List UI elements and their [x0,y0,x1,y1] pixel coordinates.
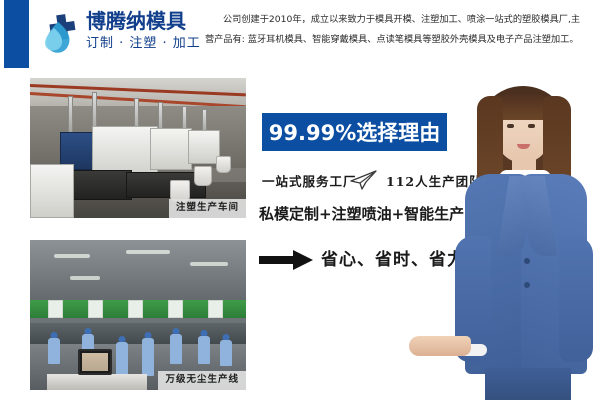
blazer-button [524,282,530,288]
brand-accent-block [4,0,29,68]
headline-banner-text: 99.99%选择理由 [262,113,447,151]
line-ceiling [30,240,246,300]
logo-company-name: 博腾纳模具 [86,8,206,34]
workstation-panel [128,300,143,318]
photo-caption: 万级无尘生产线 [158,371,246,390]
photo-injection-molding-workshop: 注塑生产车间 [30,78,246,218]
workstation-panel [88,300,103,318]
ceiling-lamp [70,276,100,280]
company-logo[interactable]: 博腾纳模具 订制 · 注塑 · 加工 [38,8,203,62]
front-cabinet [30,164,74,218]
ceiling-lamp [126,250,170,254]
company-description-line-1: 公司创建于2010年，成立以来致力于模具开模、注塑加工、喷涂一站式的塑胶模具厂,… [205,10,593,30]
molding-machine [150,128,192,170]
right-arrow-icon [259,250,313,270]
machine-mast [68,96,73,136]
droplet-cross-logo-icon [38,12,82,58]
paper-plane-icon [348,169,378,191]
workshop-scene [30,78,246,218]
plastic-bucket [194,166,212,186]
ceiling-lamp [190,262,228,266]
work-bench [30,323,246,344]
businesswoman-presenting [455,86,595,400]
skirt [485,368,571,400]
photo-caption: 注塑生产车间 [169,199,246,218]
logo-text-group: 博腾纳模具 订制 · 注塑 · 加工 [86,8,206,54]
company-description: 公司创建于2010年，成立以来致力于模具开模、注塑加工、喷涂一站式的塑胶模具厂,… [205,10,593,50]
workstation-panel [48,300,63,318]
benefits-text: 省心、省时、省力 [321,245,465,275]
computer-monitor [78,349,112,375]
right-arm [559,236,593,362]
plastic-bucket [216,156,231,173]
open-palm-hand [409,336,471,356]
page-header: 博腾纳模具 订制 · 注塑 · 加工 公司创建于2010年，成立以来致力于模具开… [0,0,600,70]
ceiling-lamp [54,254,90,258]
headline-banner: 99.99%选择理由 [262,113,447,151]
production-line-scene [30,240,246,390]
company-description-line-2: 营产品有: 蓝牙耳机模具、智能穿戴模具、点读笔模具等塑胶外壳模具及电子产品注塑加… [205,30,593,50]
feature-one-stop-service: 一站式服务工厂 [262,171,357,190]
left-eye [507,124,514,128]
blazer-button [524,258,530,264]
workstation-panel [168,300,183,318]
workstation-panel [208,300,223,318]
logo-tagline: 订制 · 注塑 · 加工 [86,34,206,54]
right-eye [528,124,535,128]
photo-dust-free-production-line: 万级无尘生产线 [30,240,246,390]
computer-desk [47,374,146,391]
